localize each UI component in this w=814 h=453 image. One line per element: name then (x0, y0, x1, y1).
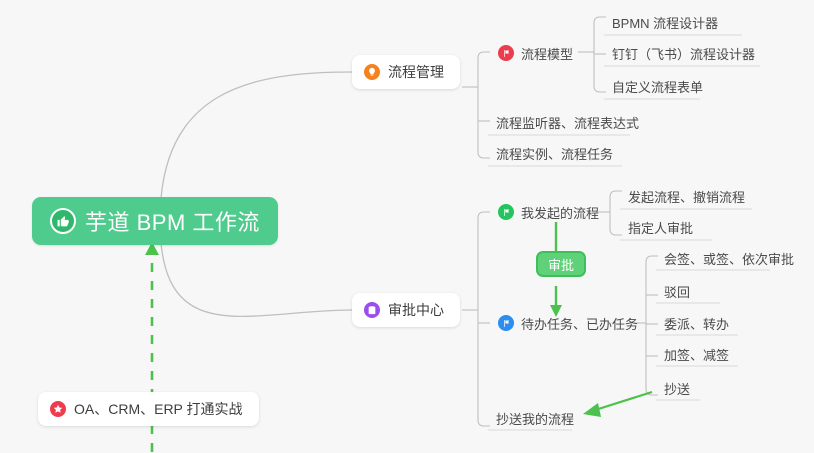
leaf-node[interactable]: BPMN 流程设计器 (604, 9, 724, 35)
thumbs-up-icon (50, 208, 76, 234)
leaf-node[interactable]: 指定人审批 (620, 214, 699, 240)
flag-icon (498, 204, 514, 220)
callout-label: OA、CRM、ERP 打通实战 (74, 399, 243, 419)
leaf-node[interactable]: 自定义流程表单 (604, 73, 709, 99)
branch-node-approval-center[interactable]: 审批中心 (352, 293, 460, 327)
leaf-label: 会签、或签、依次审批 (664, 249, 794, 268)
leaf-node[interactable]: 钉钉（飞书）流程设计器 (604, 40, 761, 66)
leaf-node[interactable]: 流程实例、流程任务 (488, 140, 619, 166)
leaf-label: 委派、转办 (664, 314, 729, 333)
leaf-label: 流程实例、流程任务 (496, 144, 613, 163)
leaf-label: 指定人审批 (628, 218, 693, 237)
leaf-node[interactable]: 驳回 (656, 278, 696, 304)
sub-node-my-initiated-processes[interactable]: 我发起的流程 (490, 199, 605, 225)
leaf-label: 流程监听器、流程表达式 (496, 113, 639, 132)
leaf-node[interactable]: 加签、减签 (656, 341, 735, 367)
leaf-node[interactable]: 委派、转办 (656, 310, 735, 336)
clipboard-icon (364, 302, 380, 318)
root-node[interactable]: 芋道 BPM 工作流 (32, 197, 278, 245)
lightbulb-icon (364, 64, 380, 80)
annotation-badge-approval[interactable]: 审批 (536, 251, 586, 277)
sub-node-todo-done-tasks[interactable]: 待办任务、已办任务 (490, 310, 644, 336)
flag-icon (498, 315, 514, 331)
callout-node[interactable]: OA、CRM、ERP 打通实战 (38, 392, 259, 426)
sub-node-process-model[interactable]: 流程模型 (490, 40, 579, 66)
leaf-label: 发起流程、撤销流程 (628, 187, 745, 206)
branch-label: 流程管理 (388, 62, 444, 82)
leaf-node[interactable]: 发起流程、撤销流程 (620, 183, 751, 209)
leaf-label: 自定义流程表单 (612, 77, 703, 96)
sub-node-label: 待办任务、已办任务 (521, 314, 638, 333)
root-label: 芋道 BPM 工作流 (85, 205, 260, 237)
star-icon (50, 401, 66, 417)
sub-node-label: 我发起的流程 (521, 203, 599, 222)
mindmap-canvas: 芋道 BPM 工作流 OA、CRM、ERP 打通实战 流程管理 流程模型 BPM… (0, 0, 814, 453)
leaf-node[interactable]: 会签、或签、依次审批 (656, 245, 800, 271)
annotation-label: 抄送 (664, 379, 690, 398)
leaf-node-cc-to-me[interactable]: 抄送我的流程 (488, 405, 580, 431)
leaf-label: 加签、减签 (664, 345, 729, 364)
flag-icon (498, 45, 514, 61)
leaf-label: 驳回 (664, 282, 690, 301)
sub-node-label: 流程模型 (521, 44, 573, 63)
branch-node-process-management[interactable]: 流程管理 (352, 55, 460, 89)
leaf-label: 钉钉（飞书）流程设计器 (612, 44, 755, 63)
leaf-label: 抄送我的流程 (496, 409, 574, 428)
badge-label: 审批 (548, 255, 574, 274)
leaf-label: BPMN 流程设计器 (612, 13, 718, 32)
annotation-label-cc[interactable]: 抄送 (656, 375, 696, 401)
branch-label: 审批中心 (388, 300, 444, 320)
leaf-node[interactable]: 流程监听器、流程表达式 (488, 109, 645, 135)
